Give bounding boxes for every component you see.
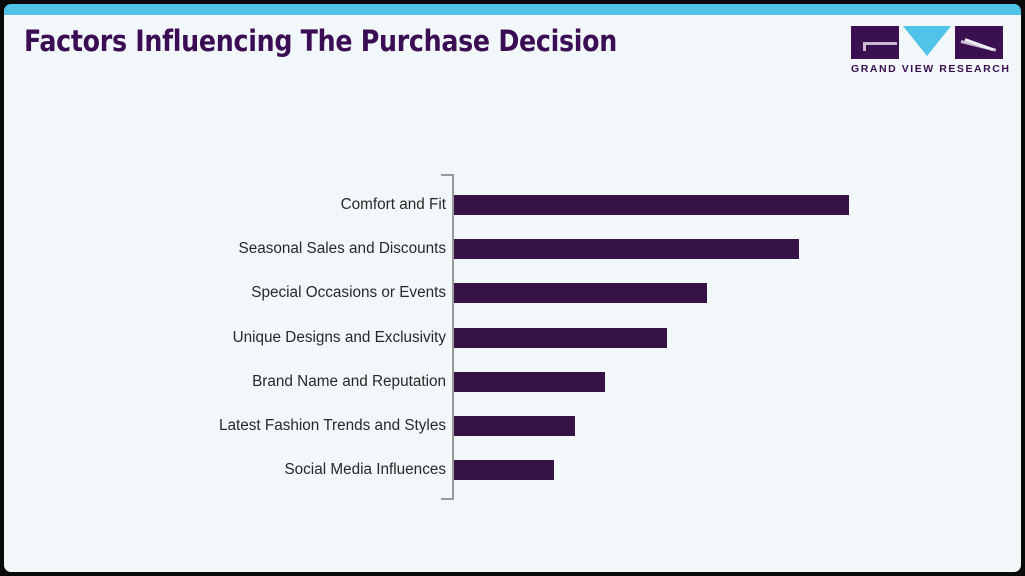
bar-chart: Comfort and FitSeasonal Sales and Discou… — [4, 15, 1021, 572]
bar-category-label: Social Media Influences — [26, 460, 446, 480]
axis-tick-bottom — [441, 498, 453, 500]
bar-segment — [454, 416, 575, 436]
bar-row: Brand Name and Reputation — [4, 372, 1021, 392]
bar-segment — [454, 239, 799, 259]
axis-tick-top — [441, 174, 453, 176]
bar-segment — [454, 372, 605, 392]
bar-segment — [454, 328, 667, 348]
slide-frame: Factors Influencing The Purchase Decisio… — [0, 0, 1025, 576]
bar-category-label: Brand Name and Reputation — [26, 372, 446, 392]
bar-segment — [454, 283, 707, 303]
bar-segment — [454, 460, 554, 480]
bar-category-label: Seasonal Sales and Discounts — [26, 239, 446, 259]
bar-category-label: Unique Designs and Exclusivity — [26, 328, 446, 348]
slide-canvas: Factors Influencing The Purchase Decisio… — [4, 15, 1021, 572]
bar-category-label: Special Occasions or Events — [26, 283, 446, 303]
bar-row: Latest Fashion Trends and Styles — [4, 416, 1021, 436]
bar-row: Seasonal Sales and Discounts — [4, 239, 1021, 259]
bar-row: Social Media Influences — [4, 460, 1021, 480]
bar-row: Special Occasions or Events — [4, 283, 1021, 303]
bar-segment — [454, 195, 849, 215]
bar-row: Comfort and Fit — [4, 195, 1021, 215]
bar-category-label: Latest Fashion Trends and Styles — [26, 416, 446, 436]
bar-row: Unique Designs and Exclusivity — [4, 328, 1021, 348]
bar-category-label: Comfort and Fit — [26, 195, 446, 215]
